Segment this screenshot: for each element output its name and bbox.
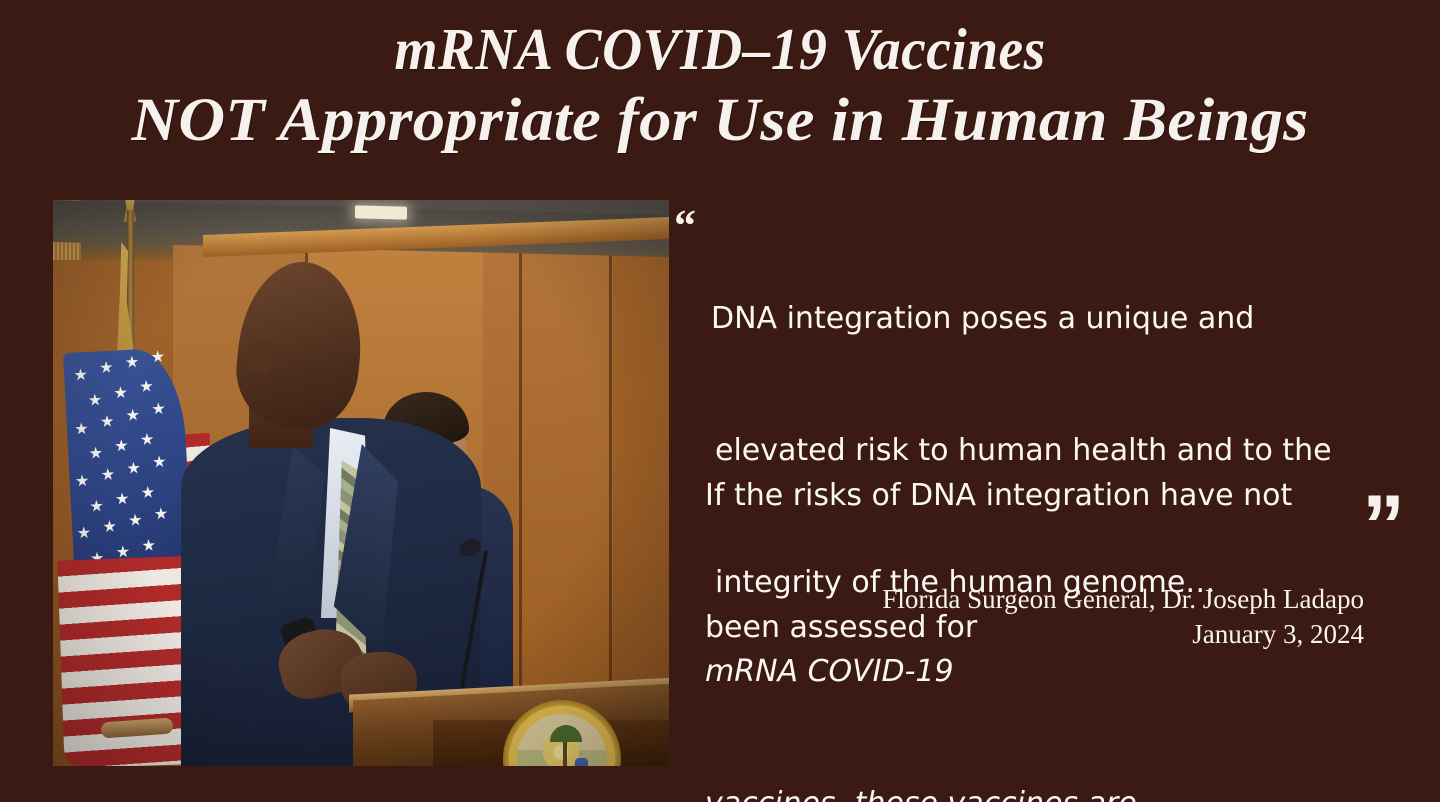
- title-line-2: NOT Appropriate for Use in Human Beings: [0, 84, 1440, 158]
- close-quote-mark: ”: [1362, 496, 1401, 556]
- photo-canvas: [53, 200, 669, 766]
- title-line-1: mRNA COVID–19 Vaccines: [43, 14, 1397, 84]
- press-conference-photo: [53, 200, 669, 766]
- seal-palm: [563, 732, 567, 766]
- attribution-source: Florida Surgeon General, Dr. Joseph Lada…: [600, 582, 1364, 617]
- flag-canton: [63, 347, 193, 585]
- seal-scene: [517, 714, 607, 766]
- open-quote-mark: “: [674, 204, 696, 248]
- page-title: mRNA COVID–19 Vaccines NOT Appropriate f…: [0, 14, 1440, 158]
- quote-p2-line-2-italic: mRNA COVID-19: [705, 650, 1405, 694]
- quote-p1-line-1: DNA integration poses a unique and: [705, 297, 1405, 341]
- quote-p2-line-1: If the risks of DNA integration have not: [705, 474, 1405, 518]
- attribution: Florida Surgeon General, Dr. Joseph Lada…: [600, 582, 1364, 652]
- quote-p2-line-3: vaccines, these vaccines are: [705, 782, 1405, 802]
- speaker-ear: [249, 340, 273, 374]
- speaker-lapel-left: [259, 446, 325, 646]
- slide-root: mRNA COVID–19 Vaccines NOT Appropriate f…: [0, 0, 1440, 802]
- attribution-date: January 3, 2024: [600, 617, 1364, 652]
- seal-figure: [575, 758, 588, 766]
- ceiling-light: [355, 205, 407, 219]
